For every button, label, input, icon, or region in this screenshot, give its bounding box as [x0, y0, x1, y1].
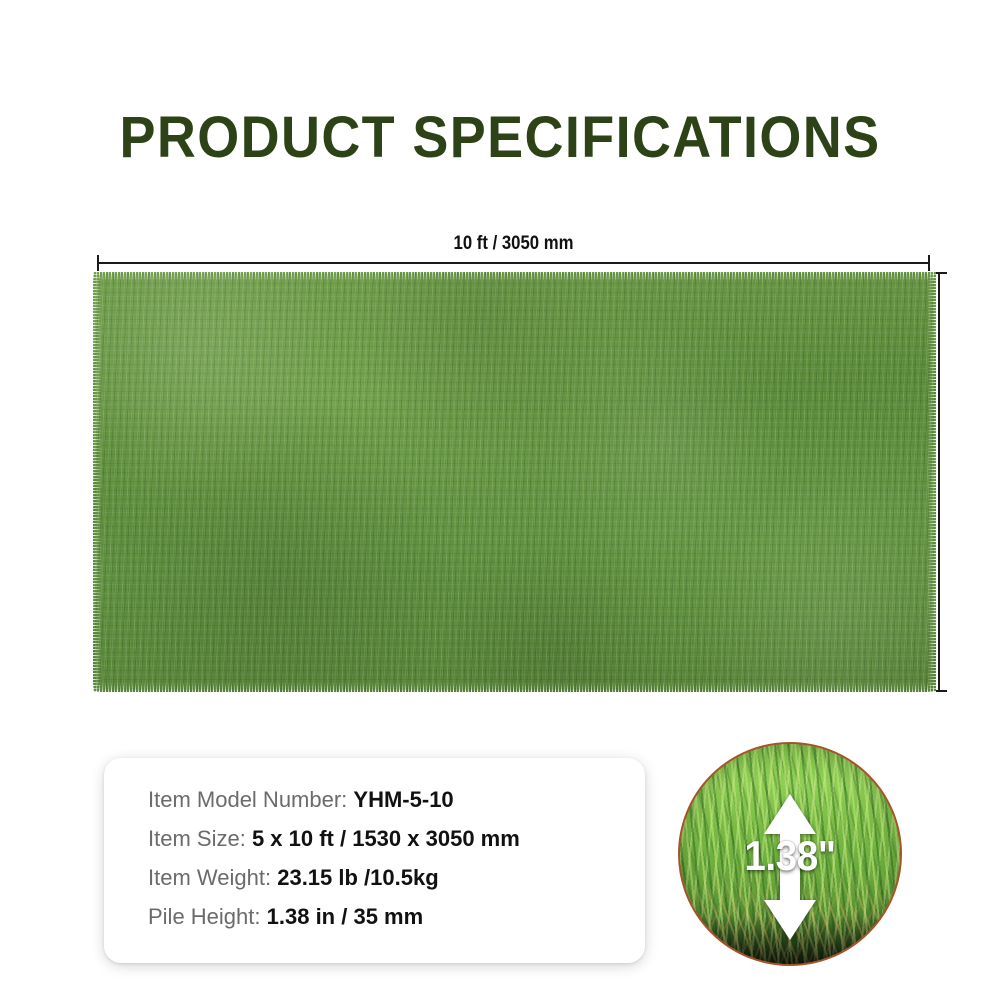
pile-height-callout: 1.38" [744, 832, 835, 880]
pile-height-closeup-circle: 1.38" [678, 742, 902, 966]
product-specifications-page: PRODUCT SPECIFICATIONS 10 ft / 3050 mm 5… [0, 0, 1000, 1000]
height-dimension-line [938, 272, 940, 692]
spec-label: Item Size: [148, 826, 246, 851]
spec-row-pile-height: Pile Height: 1.38 in / 35 mm [148, 897, 631, 936]
spec-label: Item Model Number: [148, 787, 347, 812]
spec-label: Item Weight: [148, 865, 271, 890]
specifications-list: Item Model Number: YHM-5-10 Item Size: 5… [148, 780, 631, 936]
spec-label: Pile Height: [148, 904, 261, 929]
width-dimension-cap-left [97, 255, 99, 271]
grass-texture-mottle [93, 272, 936, 692]
product-image-grass-mat [93, 272, 936, 692]
width-dimension-line [97, 262, 930, 264]
spec-row-item-size: Item Size: 5 x 10 ft / 1530 x 3050 mm [148, 819, 631, 858]
width-dimension-label: 10 ft / 3050 mm [147, 233, 880, 255]
width-dimension-cap-right [928, 255, 930, 271]
spec-value: YHM-5-10 [353, 787, 453, 812]
spec-value: 1.38 in / 35 mm [267, 904, 424, 929]
spec-row-item-weight: Item Weight: 23.15 lb /10.5kg [148, 858, 631, 897]
mat-edge-bottom [93, 683, 936, 692]
mat-edge-left [93, 272, 102, 692]
page-title: PRODUCT SPECIFICATIONS [35, 104, 965, 171]
mat-edge-right [927, 272, 936, 692]
specifications-card: Item Model Number: YHM-5-10 Item Size: 5… [104, 758, 645, 963]
spec-value: 5 x 10 ft / 1530 x 3050 mm [252, 826, 520, 851]
spec-value: 23.15 lb /10.5kg [277, 865, 438, 890]
mat-edge-top [93, 272, 936, 281]
spec-row-item-model-number: Item Model Number: YHM-5-10 [148, 780, 631, 819]
